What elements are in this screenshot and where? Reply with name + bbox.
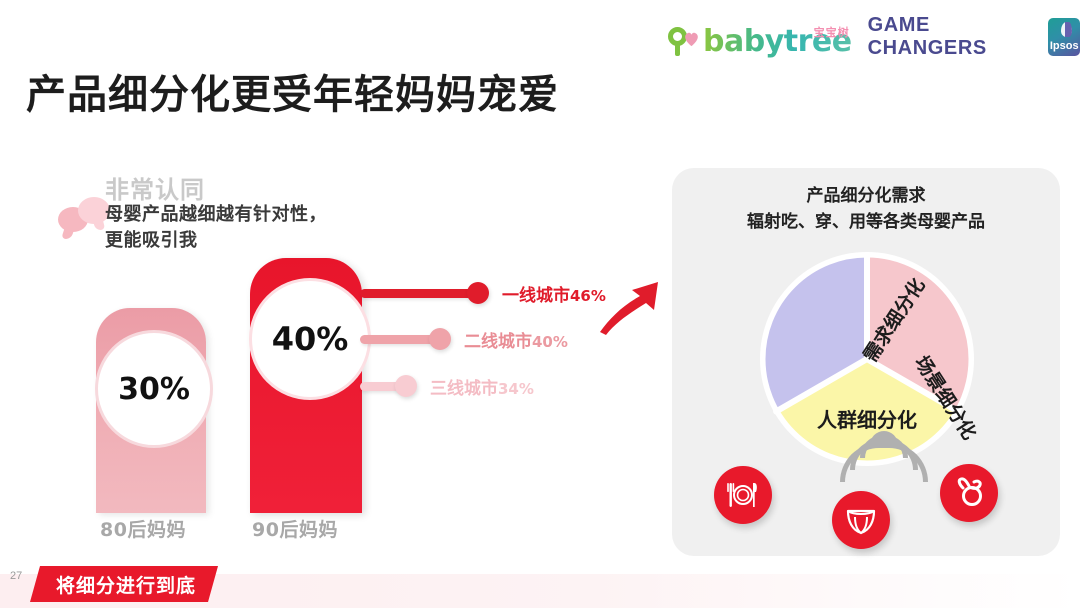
bar-category-90s-moms: 90后妈妈	[252, 515, 338, 542]
tier-row-first-tier: 一线城市46%	[360, 281, 606, 305]
slide-canvas: babytree 宝宝树 GAME CHANGERS Ipsos 产品细分化更受…	[0, 0, 1080, 608]
tier-label-second-tier: 二线城市40%	[464, 327, 568, 352]
signal-waves-icon	[847, 436, 921, 478]
agree-statement-line-2: 更能吸引我	[105, 228, 327, 254]
heart-icon	[683, 31, 700, 47]
food-icon	[714, 466, 772, 524]
segmentation-panel: 产品细分化需求 辐射吃、穿、用等各类母婴产品 需求细分化 场景细分	[672, 168, 1060, 556]
bar-value-80s-moms: 30%	[95, 330, 213, 448]
agree-statement-line-1: 母婴产品越细越有针对性，	[105, 202, 327, 228]
panel-title: 产品细分化需求 辐射吃、穿、用等各类母婴产品	[672, 184, 1060, 235]
ipsos-wordmark: Ipsos	[1048, 40, 1080, 52]
panel-title-line-2: 辐射吃、穿、用等各类母婴产品	[672, 210, 1060, 236]
tier-name-second-tier: 二线城市	[464, 332, 532, 352]
tier-pct-third-tier: 34%	[498, 380, 534, 398]
tier-bar-first-tier	[360, 289, 480, 298]
page-number: 27	[10, 570, 22, 582]
tier-row-third-tier: 三线城市34%	[360, 374, 534, 398]
tier-label-first-tier: 一线城市46%	[502, 281, 606, 306]
agree-label: 非常认同	[105, 170, 205, 205]
footer-ribbon: 将细分进行到底	[30, 566, 218, 602]
agree-statement: 母婴产品越细越有针对性， 更能吸引我	[105, 202, 327, 254]
tier-pct-second-tier: 40%	[532, 333, 568, 351]
babytree-mark-icon	[668, 25, 702, 57]
babytree-logo: babytree 宝宝树	[668, 17, 852, 57]
tier-label-third-tier: 三线城市34%	[430, 374, 534, 399]
bar-category-80s-moms: 80后妈妈	[100, 515, 186, 542]
segmentation-pie-chart: 需求细分化 场景细分化 人群细分化	[760, 252, 974, 466]
ipsos-sphere-icon	[1061, 22, 1072, 37]
pie-label-group: 人群细分化	[817, 404, 917, 433]
tier-knob-third-tier	[395, 375, 417, 397]
tier-name-first-tier: 一线城市	[502, 286, 570, 306]
page-title: 产品细分化更受年轻妈妈宠爱	[26, 62, 559, 120]
tier-bar-third-tier	[360, 382, 408, 391]
tier-knob-second-tier	[429, 328, 451, 350]
tier-name-third-tier: 三线城市	[430, 379, 498, 399]
pacifier-icon	[940, 464, 998, 522]
tier-row-second-tier: 二线城市40%	[360, 327, 568, 351]
diaper-icon	[832, 491, 890, 549]
footer-ribbon-label: 将细分进行到底	[56, 571, 196, 598]
ipsos-logo: Ipsos	[1048, 18, 1080, 56]
up-trend-arrow-icon	[596, 272, 662, 338]
tier-bar-second-tier	[360, 335, 442, 344]
panel-title-line-1: 产品细分化需求	[672, 184, 1060, 210]
tier-knob-first-tier	[467, 282, 489, 304]
babytree-chinese-name: 宝宝树	[814, 24, 850, 40]
bar-value-90s-moms: 40%	[249, 278, 371, 400]
game-changers-text: GAME CHANGERS	[868, 14, 1033, 60]
brand-header: babytree 宝宝树 GAME CHANGERS Ipsos	[668, 14, 1080, 60]
